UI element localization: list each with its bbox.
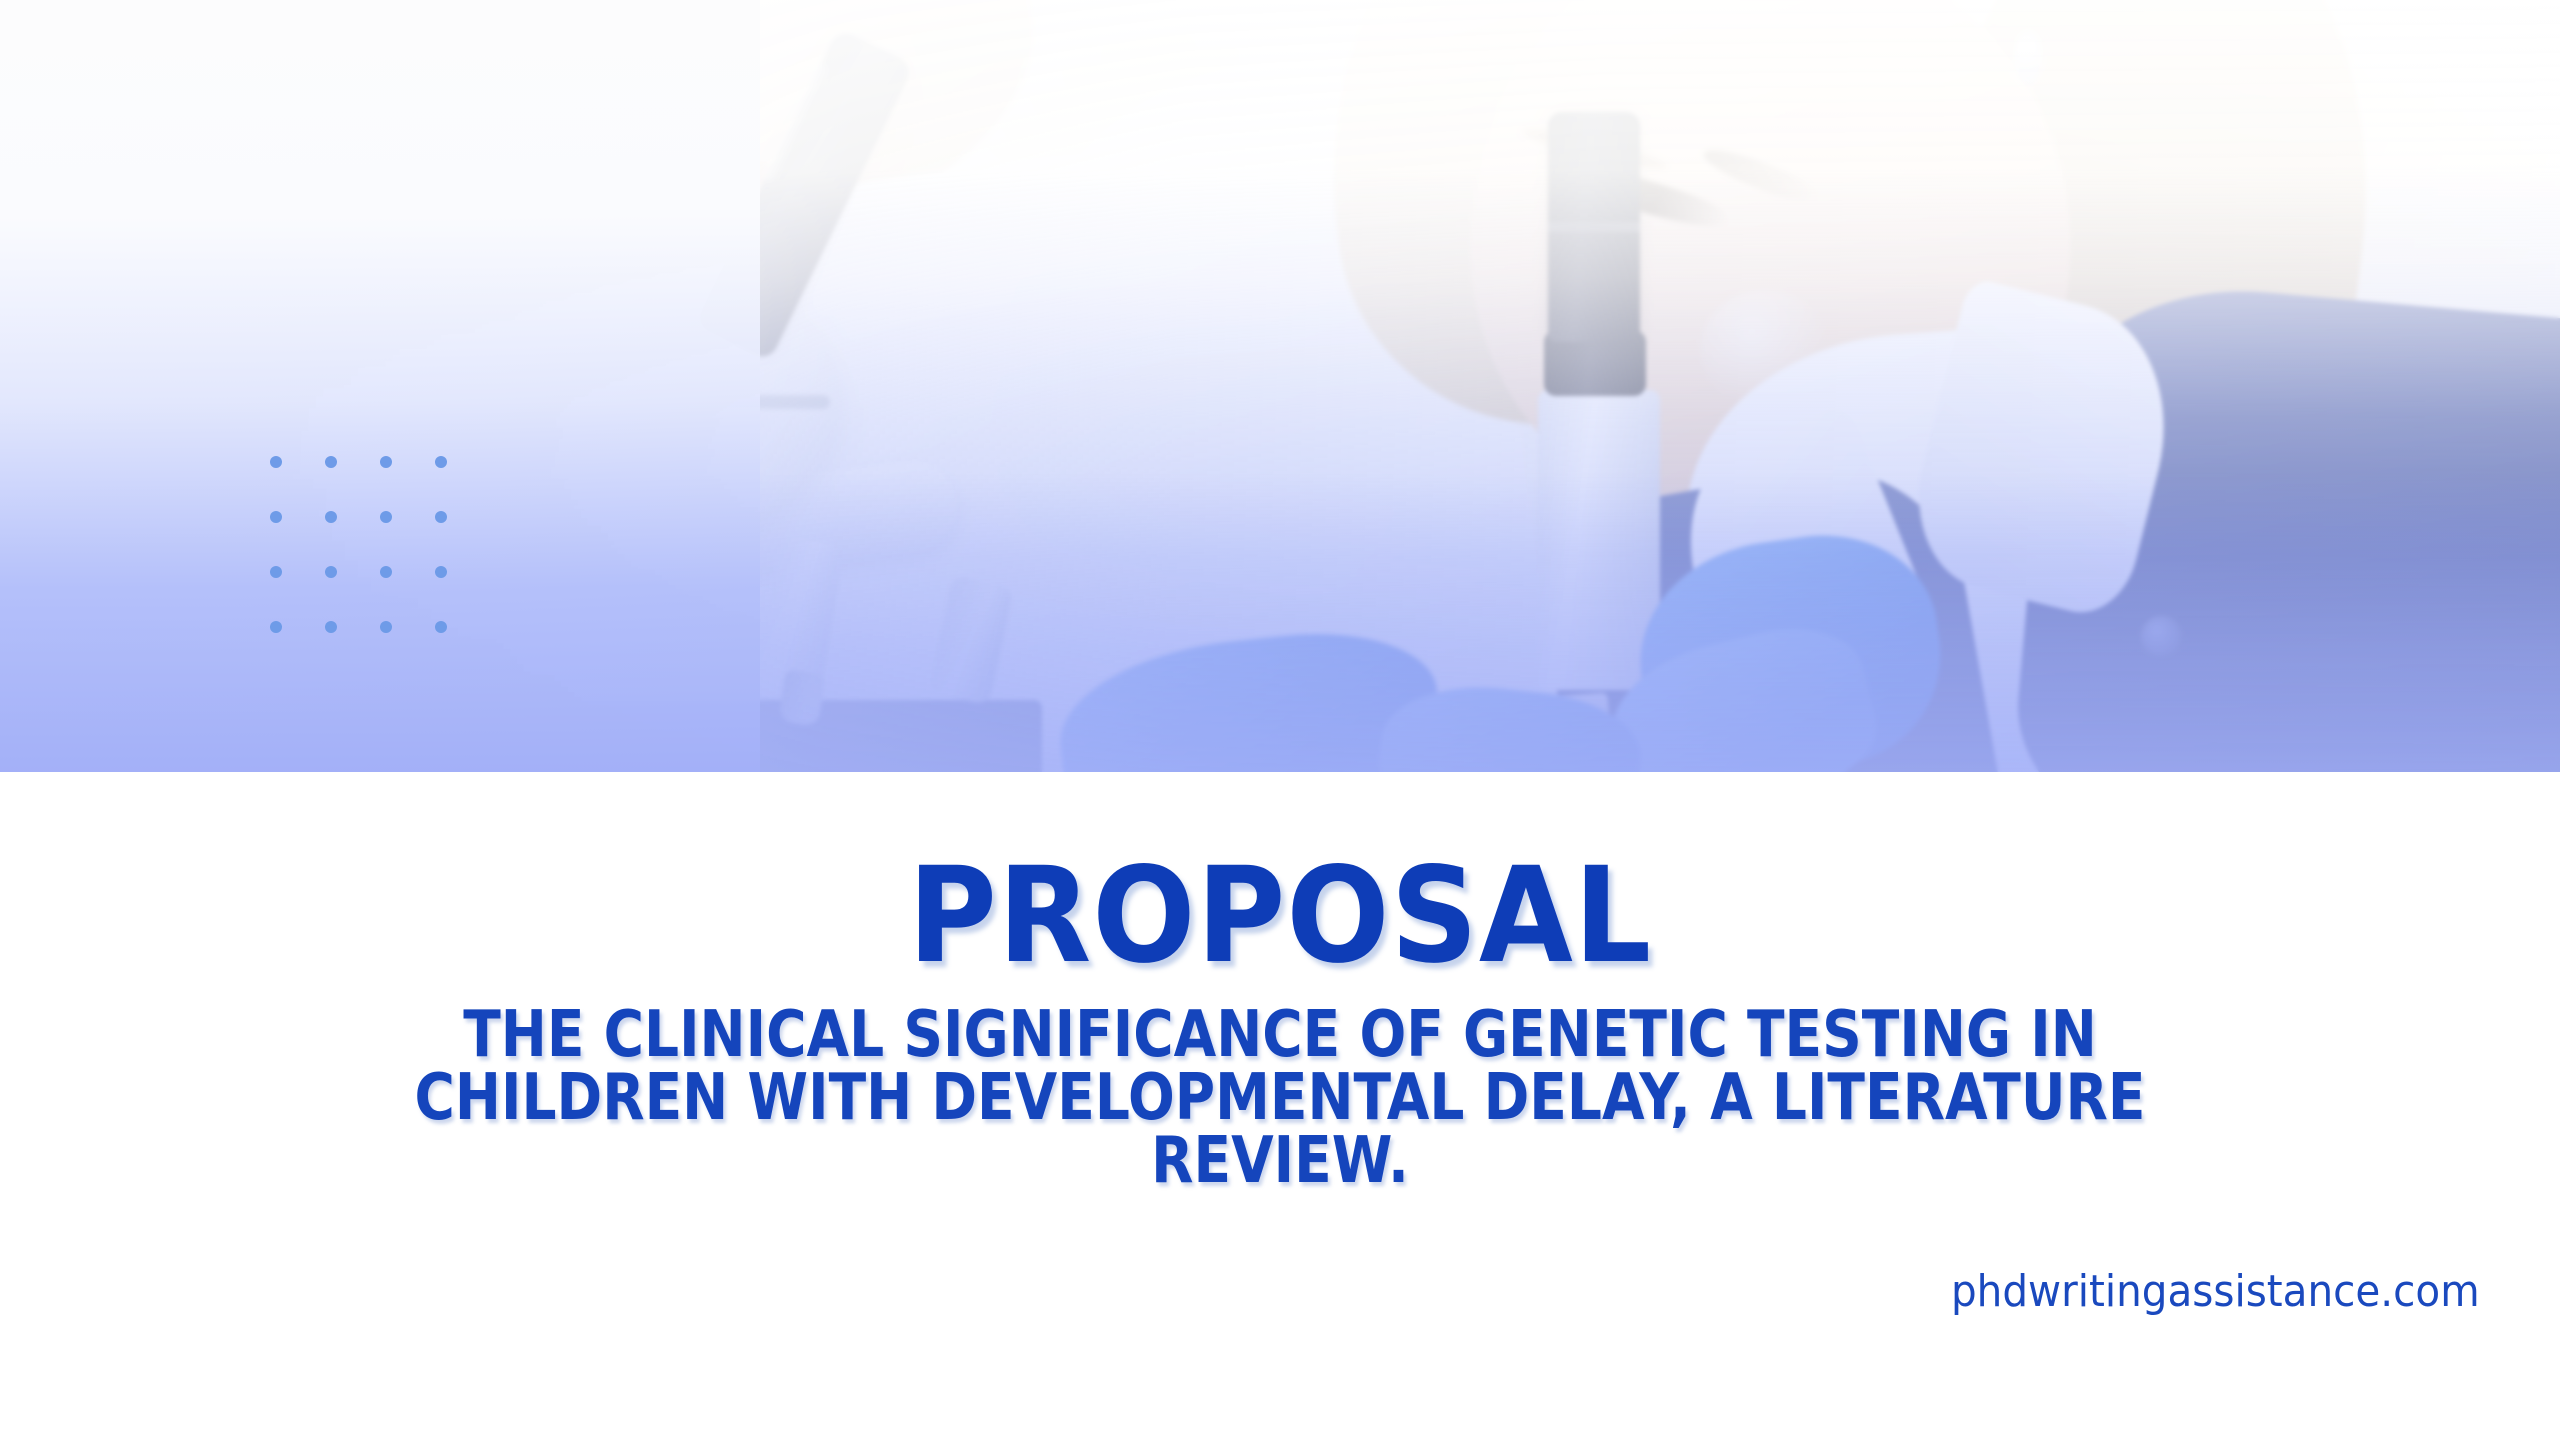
page-subtitle: THE CLINICAL SIGNIFICANCE OF GENETIC TES… [300, 1004, 2261, 1193]
dot-grid-dot [270, 456, 282, 468]
dot-grid-dot [325, 566, 337, 578]
dot-grid-dot [270, 511, 282, 523]
dot-grid-dot [325, 456, 337, 468]
dot-grid-dot [435, 456, 447, 468]
dot-grid-dot [380, 621, 392, 633]
dot-grid-dot [380, 456, 392, 468]
proposal-title-slide: PROPOSAL THE CLINICAL SIGNIFICANCE OF GE… [0, 0, 2560, 1440]
dot-grid-dot [380, 511, 392, 523]
dot-grid-icon [270, 456, 448, 634]
title-content-panel: PROPOSAL THE CLINICAL SIGNIFICANCE OF GE… [0, 772, 2560, 1440]
page-title: PROPOSAL [102, 850, 2457, 982]
dot-grid-dot [325, 621, 337, 633]
dot-grid-dot [325, 511, 337, 523]
hero-left-gradient-wash [0, 0, 760, 772]
dot-grid-dot [435, 566, 447, 578]
dot-grid-dot [435, 511, 447, 523]
dot-grid-dot [270, 566, 282, 578]
dot-grid-dot [270, 621, 282, 633]
dot-grid-dot [380, 566, 392, 578]
website-url[interactable]: phdwritingassistance.com [1951, 1266, 2480, 1317]
dot-grid-dot [435, 621, 447, 633]
hero-banner [0, 0, 2560, 772]
